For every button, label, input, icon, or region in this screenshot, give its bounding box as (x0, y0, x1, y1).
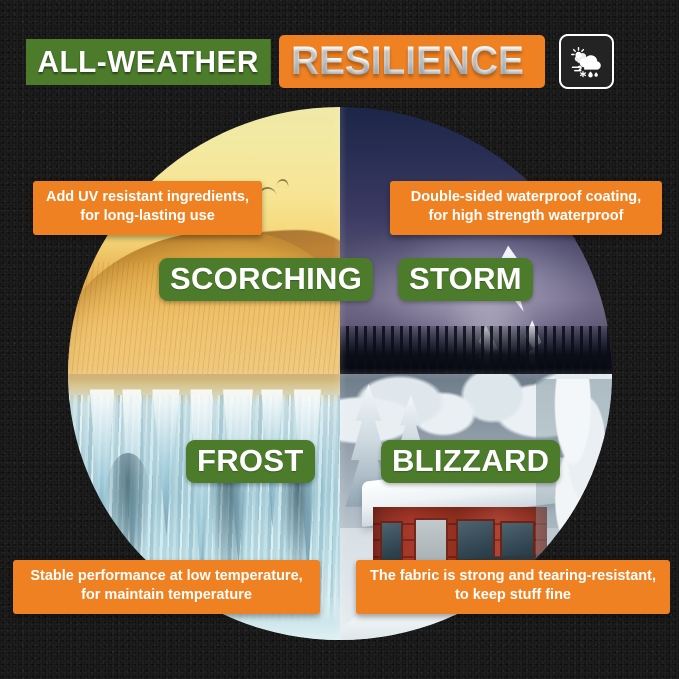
callout-blizzard: The fabric is strong and tearing-resista… (356, 560, 670, 614)
badge-storm: STORM (398, 258, 533, 301)
callout-frost-line2: for maintain temperature (25, 586, 308, 605)
callout-storm-line2: for high strength waterproof (402, 207, 650, 226)
poster-canvas: ALL-WEATHER RESILIENCE (0, 0, 679, 679)
callout-blizzard-line1: The fabric is strong and tearing-resista… (370, 568, 656, 584)
weather-icon (559, 34, 614, 89)
callout-blizzard-line2: to keep stuff fine (368, 586, 658, 605)
page-title-secondary: RESILIENCE (279, 35, 545, 88)
callout-scorching-line1: Add UV resistant ingredients, (46, 189, 249, 205)
badge-scorching: SCORCHING (159, 258, 373, 301)
bird-icon (277, 178, 290, 188)
badge-frost: FROST (186, 440, 315, 483)
callout-storm-line1: Double-sided waterproof coating, (411, 189, 641, 205)
page-title-secondary-text: RESILIENCE (291, 41, 524, 81)
quadrant-scorching (68, 107, 340, 374)
badge-blizzard: BLIZZARD (381, 440, 560, 483)
header-banner: ALL-WEATHER RESILIENCE (26, 34, 614, 89)
callout-scorching: Add UV resistant ingredients, for long-l… (33, 181, 262, 235)
quadrant-storm (340, 107, 612, 374)
page-title-primary: ALL-WEATHER (26, 39, 270, 85)
callout-frost: Stable performance at low temperature, f… (13, 560, 320, 614)
callout-storm: Double-sided waterproof coating, for hig… (390, 181, 662, 235)
storm-treeline (340, 326, 612, 374)
callout-frost-line1: Stable performance at low temperature, (30, 568, 302, 584)
callout-scorching-line2: for long-lasting use (45, 207, 250, 226)
